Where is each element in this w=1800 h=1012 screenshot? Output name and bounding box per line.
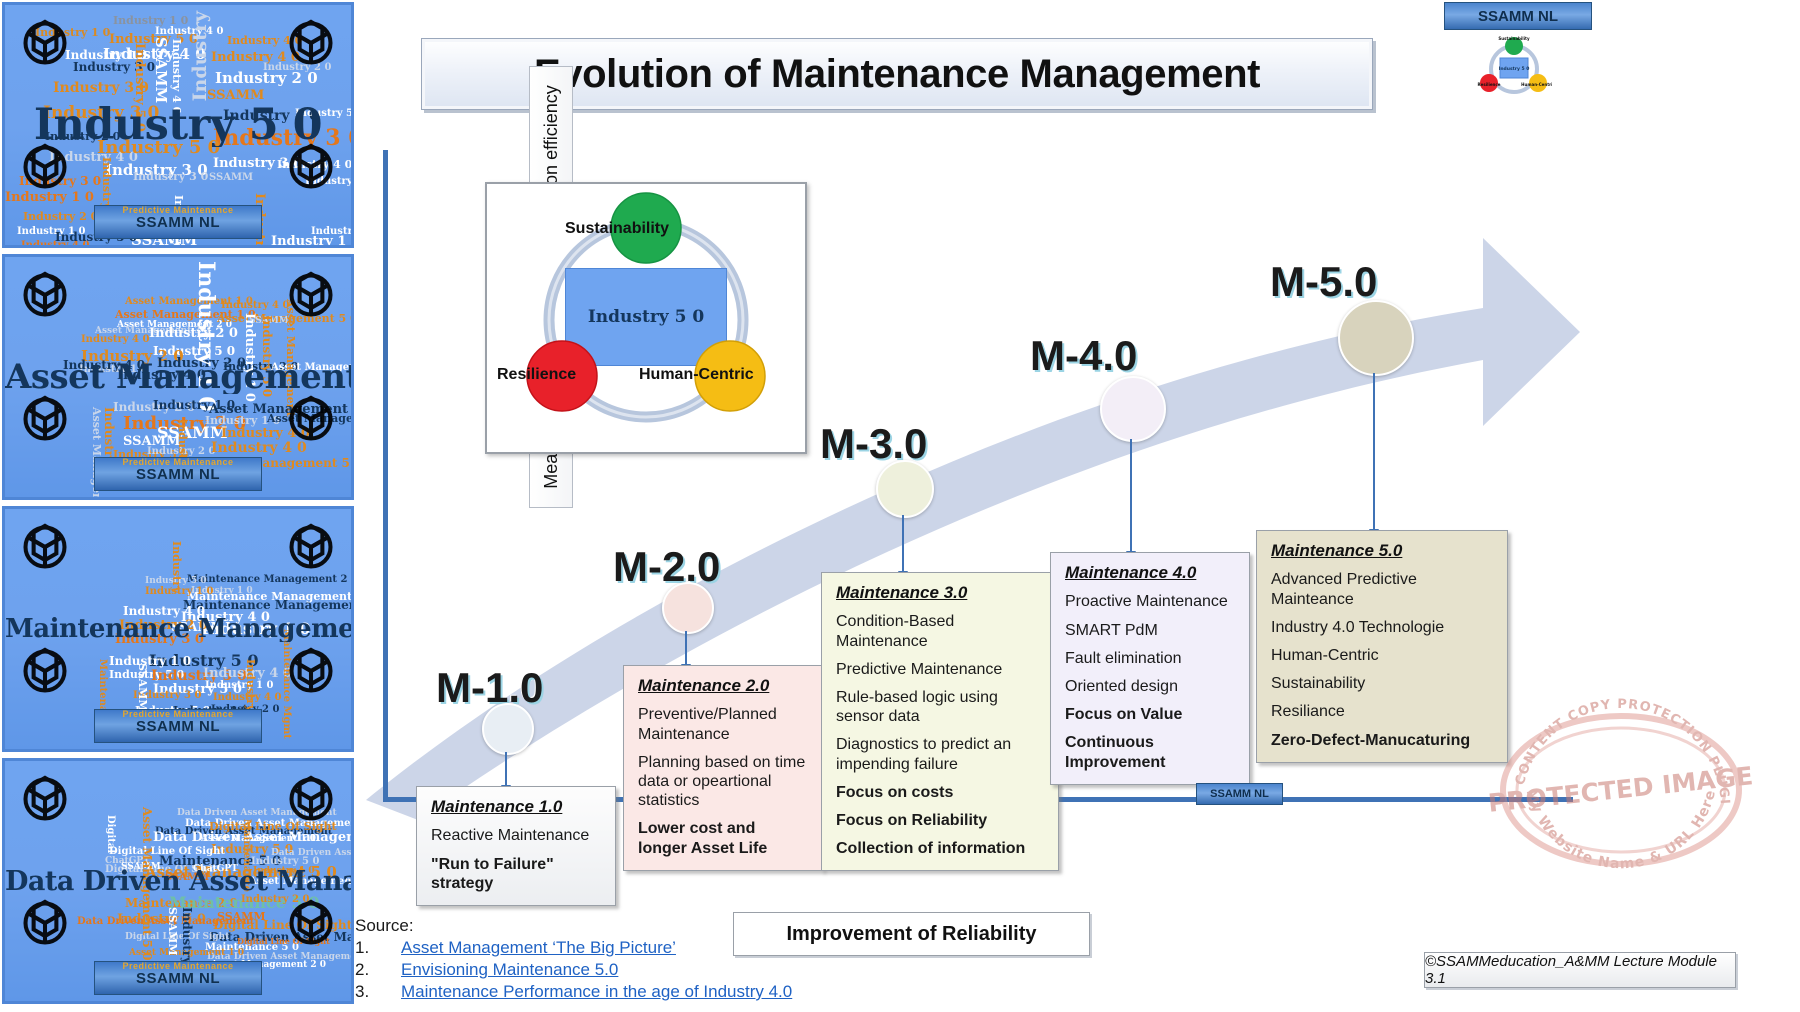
info-box-line: Oriented design	[1065, 677, 1235, 696]
thumbnail-rail: Industry 1 0 Industry 1 0 Industry 5 0 I…	[0, 0, 358, 1012]
svg-text:Sustainability: Sustainability	[1498, 36, 1530, 41]
info-box-line: Condition-Based Maintenance	[836, 612, 1044, 650]
info-box-line: Sustainability	[1271, 674, 1493, 693]
ssamm-badge: Predictive Maintenance SSAMM NL	[94, 205, 262, 239]
thumbnail-item[interactable]: Industry 1 0 Industry 1 0 Industry 5 0 I…	[2, 2, 354, 248]
ssamm-badge-axis: SSAMM NL	[1196, 783, 1283, 805]
predictive-maintenance-label: Predictive Maintenance	[95, 457, 261, 467]
source-row: 2. Envisioning Maintenance 5.0	[355, 960, 825, 980]
industry50-inset-diagram: Industry 5 0 Sustainability Resilience H…	[485, 182, 807, 454]
openai-logo-icon	[19, 269, 71, 321]
inset-label-sustainability: Sustainability	[565, 220, 669, 238]
info-box-line: Focus on Value	[1065, 705, 1235, 724]
info-box-maintenance-1: Maintenance 1.0 Reactive Maintenance "Ru…	[416, 786, 616, 906]
openai-logo-icon	[285, 773, 337, 825]
milestone-label-m2: M-2.0	[613, 543, 720, 591]
copyright-label: ©SSAMMeducation_A&MM Lecture Module 3.1	[1424, 952, 1736, 988]
info-box-title: Maintenance 2.0	[638, 676, 808, 696]
openai-logo-icon	[285, 645, 337, 697]
info-box-line: "Run to Failure" strategy	[431, 855, 601, 893]
openai-logo-icon	[19, 141, 71, 193]
info-box-title: Maintenance 4.0	[1065, 563, 1235, 583]
milestone-node-m4	[1100, 376, 1166, 442]
openai-logo-icon	[19, 645, 71, 697]
leader-line-m4	[1130, 439, 1132, 552]
source-number: 2.	[355, 960, 401, 980]
info-box-title: Maintenance 3.0	[836, 583, 1044, 603]
info-box-line: Fault elimination	[1065, 649, 1235, 668]
milestone-node-m1	[482, 703, 534, 755]
thumbnail-item[interactable]: Maintenance Management 2 0 Industry 1 0 …	[2, 506, 354, 752]
milestone-label-m1: M-1.0	[436, 664, 543, 712]
info-box-line: Focus on costs	[836, 783, 1044, 802]
ssamm-badge: Predictive Maintenance SSAMM NL	[94, 961, 262, 995]
milestone-label-m5: M-5.0	[1270, 258, 1377, 306]
source-number: 1.	[355, 938, 401, 958]
thumbnail-item[interactable]: Asset Management 1 0 Asset Management 1 …	[2, 254, 354, 500]
openai-logo-icon	[19, 773, 71, 825]
openai-logo-icon	[19, 393, 71, 445]
info-box-maintenance-4: Maintenance 4.0 Proactive Maintenance SM…	[1050, 552, 1250, 785]
info-box-line: SMART PdM	[1065, 621, 1235, 640]
ssamm-badge-top: SSAMM NL	[1444, 2, 1592, 30]
milestone-node-m3	[876, 460, 934, 518]
source-link[interactable]: Asset Management ‘The Big Picture’	[401, 938, 676, 958]
info-box-line: Zero-Defect-Manucaturing	[1271, 731, 1493, 750]
y-axis-line	[383, 150, 388, 800]
svg-text:Industry 5 0: Industry 5 0	[1499, 66, 1530, 72]
info-box-title: Maintenance 1.0	[431, 797, 601, 817]
thumbnail-item[interactable]: Data Driven Asset Management Data Driven…	[2, 758, 354, 1004]
info-box-line: Predictive Maintenance	[836, 660, 1044, 679]
milestone-label-m4: M-4.0	[1030, 332, 1137, 380]
info-box-maintenance-5: Maintenance 5.0 Advanced Predictive Main…	[1256, 530, 1508, 763]
source-link[interactable]: Maintenance Performance in the age of In…	[401, 982, 792, 1002]
info-box-line: Resiliance	[1271, 702, 1493, 721]
openai-logo-icon	[285, 897, 337, 949]
ssamm-badge: Predictive Maintenance SSAMM NL	[94, 709, 262, 743]
source-number: 3.	[355, 982, 401, 1002]
info-box-line: Human-Centric	[1271, 646, 1493, 665]
info-box-maintenance-2: Maintenance 2.0 Preventive/Planned Maint…	[623, 665, 823, 871]
source-row: 1. Asset Management ‘The Big Picture’	[355, 938, 825, 958]
svg-text:Human-Centric: Human-Centric	[1521, 82, 1552, 87]
info-box-line: Diagnostics to predict an impending fail…	[836, 735, 1044, 773]
openai-logo-icon	[19, 897, 71, 949]
info-box-line: Collection of information	[836, 839, 1044, 858]
sources-heading: Source:	[355, 916, 825, 936]
info-box-line: Focus on Reliability	[836, 811, 1044, 830]
predictive-maintenance-label: Predictive Maintenance	[95, 709, 261, 719]
info-box-line: Advanced Predictive Mainteance	[1271, 570, 1493, 608]
info-box-title: Maintenance 5.0	[1271, 541, 1493, 561]
leader-line-m5	[1373, 373, 1375, 530]
predictive-maintenance-label: Predictive Maintenance	[95, 961, 261, 971]
milestone-node-m5	[1338, 300, 1414, 376]
leader-line-m1	[505, 752, 507, 786]
mini-industry50-diagram: Industry 5 0 Sustainability Resilience H…	[1476, 36, 1552, 98]
slide-canvas: SSAMM NL Industry 5 0 Sustainability Res…	[358, 0, 1800, 1012]
ssamm-badge: Predictive Maintenance SSAMM NL	[94, 457, 262, 491]
openai-logo-icon	[285, 141, 337, 193]
info-box-line: Continuous Improvement	[1065, 733, 1235, 771]
sources-list: Source: 1. Asset Management ‘The Big Pic…	[355, 916, 825, 1002]
openai-logo-icon	[19, 17, 71, 69]
leader-line-m2	[685, 631, 687, 665]
info-box-line: Proactive Maintenance	[1065, 592, 1235, 611]
inset-label-human-centric: Human-Centric	[639, 366, 754, 384]
openai-logo-icon	[285, 393, 337, 445]
info-box-line: Rule-based logic using sensor data	[836, 688, 1044, 726]
openai-logo-icon	[285, 269, 337, 321]
leader-line-m3	[902, 515, 904, 572]
openai-logo-icon	[19, 521, 71, 573]
milestone-node-m2	[662, 582, 714, 634]
openai-logo-icon	[285, 17, 337, 69]
info-box-line: Preventive/Planned Maintenance	[638, 705, 808, 743]
info-box-line: Industry 4.0 Technologie	[1271, 618, 1493, 637]
source-row: 3. Maintenance Performance in the age of…	[355, 982, 825, 1002]
info-box-line: Lower cost and longer Asset Life	[638, 819, 808, 857]
info-box-line: Reactive Maintenance	[431, 826, 601, 845]
svg-text:Resilience: Resilience	[1478, 82, 1501, 87]
info-box-maintenance-3: Maintenance 3.0 Condition-Based Maintena…	[821, 572, 1059, 871]
source-link[interactable]: Envisioning Maintenance 5.0	[401, 960, 618, 980]
openai-logo-icon	[285, 521, 337, 573]
info-box-line: Planning based on time data or opeartion…	[638, 753, 808, 811]
inset-label-resilience: Resilience	[497, 366, 576, 384]
predictive-maintenance-label: Predictive Maintenance	[95, 205, 261, 215]
